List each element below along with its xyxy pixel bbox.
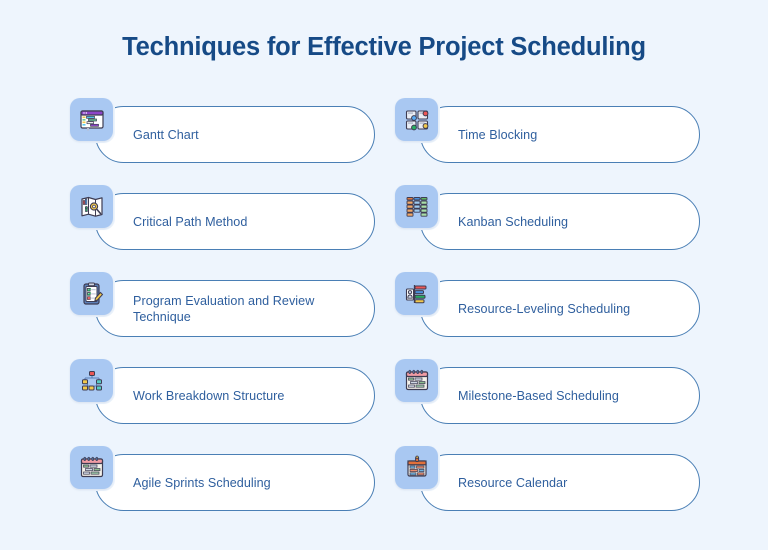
technique-label: Critical Path Method bbox=[133, 214, 247, 230]
technique-card[interactable]: Agile Sprints Scheduling bbox=[95, 454, 375, 511]
technique-card[interactable]: Program Evaluation and Review Technique bbox=[95, 280, 375, 337]
list-item[interactable]: Gantt Chart bbox=[68, 96, 375, 163]
techniques-grid: Gantt Chart bbox=[68, 96, 700, 511]
icon-tile bbox=[70, 272, 113, 315]
icon-tile bbox=[395, 272, 438, 315]
technique-label: Agile Sprints Scheduling bbox=[133, 475, 271, 491]
technique-label: Milestone-Based Scheduling bbox=[458, 388, 619, 404]
list-item[interactable]: Work Breakdown Structure bbox=[68, 357, 375, 424]
technique-card[interactable]: Resource Calendar bbox=[420, 454, 700, 511]
technique-label: Program Evaluation and Review Technique bbox=[133, 293, 360, 325]
icon-tile bbox=[70, 185, 113, 228]
infographic-page: Techniques for Effective Project Schedul… bbox=[0, 0, 768, 550]
icon-tile bbox=[395, 446, 438, 489]
icon-tile bbox=[70, 98, 113, 141]
technique-card[interactable]: Gantt Chart bbox=[95, 106, 375, 163]
technique-label: Resource-Leveling Scheduling bbox=[458, 301, 630, 317]
resource-leveling-bars-icon bbox=[403, 280, 431, 308]
technique-label: Time Blocking bbox=[458, 127, 537, 143]
list-item[interactable]: Resource Calendar bbox=[393, 444, 700, 511]
technique-label: Gantt Chart bbox=[133, 127, 199, 143]
icon-tile bbox=[70, 446, 113, 489]
gantt-chart-icon bbox=[78, 106, 106, 134]
technique-card[interactable]: Milestone-Based Scheduling bbox=[420, 367, 700, 424]
technique-card[interactable]: Work Breakdown Structure bbox=[95, 367, 375, 424]
milestone-calendar-icon bbox=[403, 367, 431, 395]
clipboard-checklist-icon bbox=[78, 280, 106, 308]
icon-tile bbox=[395, 98, 438, 141]
technique-label: Resource Calendar bbox=[458, 475, 567, 491]
list-item[interactable]: Milestone-Based Scheduling bbox=[393, 357, 700, 424]
technique-card[interactable]: Critical Path Method bbox=[95, 193, 375, 250]
critical-path-map-icon bbox=[78, 193, 106, 221]
technique-card[interactable]: Kanban Scheduling bbox=[420, 193, 700, 250]
page-title: Techniques for Effective Project Schedul… bbox=[0, 30, 768, 64]
technique-label: Work Breakdown Structure bbox=[133, 388, 284, 404]
technique-card[interactable]: Time Blocking bbox=[420, 106, 700, 163]
hierarchy-tree-icon bbox=[78, 367, 106, 395]
sprint-calendar-icon bbox=[78, 454, 106, 482]
time-blocking-grid-icon bbox=[403, 106, 431, 134]
list-item[interactable]: Agile Sprints Scheduling bbox=[68, 444, 375, 511]
list-item[interactable]: Resource-Leveling Scheduling bbox=[393, 270, 700, 337]
technique-label: Kanban Scheduling bbox=[458, 214, 568, 230]
list-item[interactable]: Kanban Scheduling bbox=[393, 183, 700, 250]
icon-tile bbox=[395, 185, 438, 228]
kanban-board-icon bbox=[403, 193, 431, 221]
icon-tile bbox=[395, 359, 438, 402]
technique-card[interactable]: Resource-Leveling Scheduling bbox=[420, 280, 700, 337]
list-item[interactable]: Time Blocking bbox=[393, 96, 700, 163]
list-item[interactable]: Critical Path Method bbox=[68, 183, 375, 250]
icon-tile bbox=[70, 359, 113, 402]
resource-calendar-icon bbox=[403, 454, 431, 482]
list-item[interactable]: Program Evaluation and Review Technique bbox=[68, 270, 375, 337]
